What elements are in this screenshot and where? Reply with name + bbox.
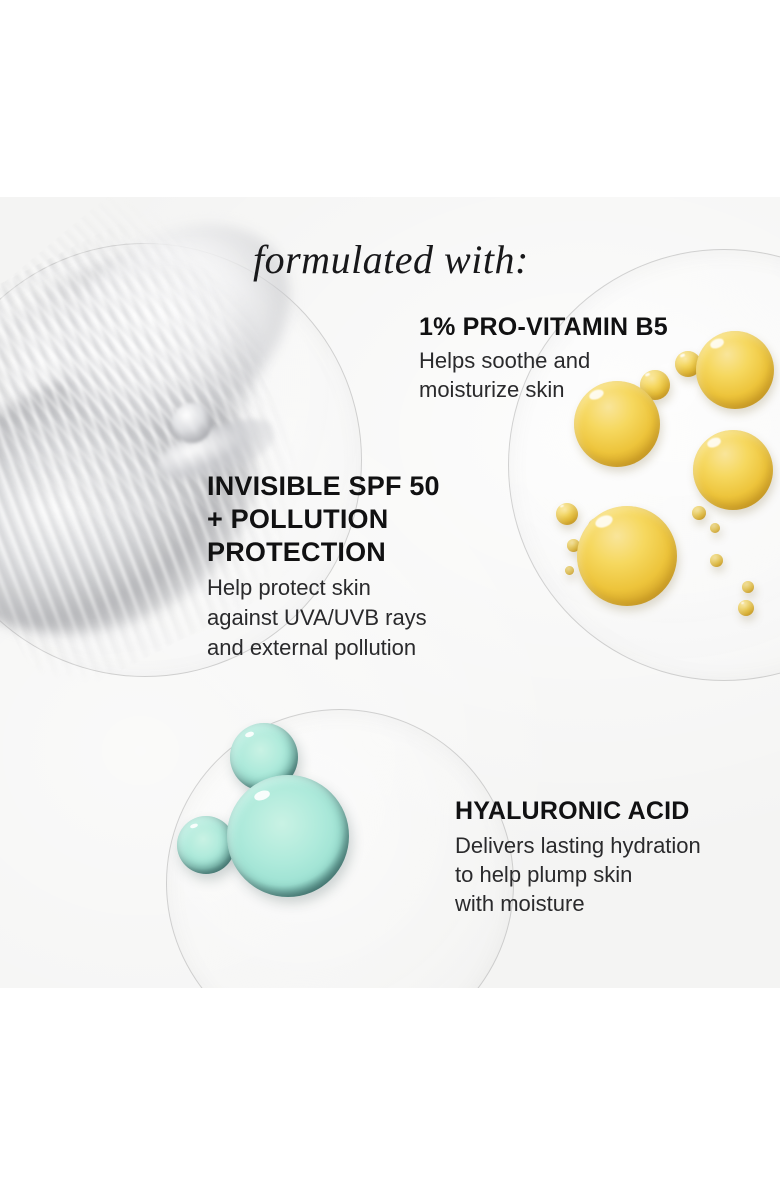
ingredient-title-invisible-spf-50: INVISIBLE SPF 50 + POLLUTION PROTECTION (207, 470, 507, 569)
oil-droplet-5 (556, 503, 578, 525)
mint-droplet-2 (227, 775, 349, 897)
oil-droplet-14 (738, 600, 754, 616)
oil-droplet-13 (565, 566, 574, 575)
ingredient-body-hyaluronic-acid: Delivers lasting hydration to help plump… (455, 831, 775, 918)
oil-droplet-12 (742, 581, 754, 593)
oil-droplet-8 (577, 506, 677, 606)
oil-droplet-9 (692, 506, 706, 520)
ingredient-block-invisible-spf-50: INVISIBLE SPF 50 + POLLUTION PROTECTION … (207, 470, 507, 663)
ingredient-block-hyaluronic-acid: HYALURONIC ACID Delivers lasting hydrati… (455, 796, 775, 918)
oil-droplet-10 (710, 523, 720, 533)
ingredient-title-hyaluronic-acid: HYALURONIC ACID (455, 796, 775, 827)
ingredient-title-pro-vitamin-b5: 1% PRO-VITAMIN B5 (419, 312, 759, 342)
oil-droplet-4 (693, 430, 773, 510)
formulated-with-heading: formulated with: (253, 238, 529, 282)
infographic-canvas: formulated with: 1% PRO-VITAMIN B5 Helps… (0, 0, 780, 1196)
oil-droplet-11 (710, 554, 723, 567)
ingredient-body-invisible-spf-50: Help protect skin against UVA/UVB rays a… (207, 573, 507, 663)
ingredient-body-pro-vitamin-b5: Helps soothe and moisturize skin (419, 346, 759, 404)
mint-droplet-1 (177, 816, 235, 874)
ingredient-block-pro-vitamin-b5: 1% PRO-VITAMIN B5 Helps soothe and moist… (419, 312, 759, 404)
